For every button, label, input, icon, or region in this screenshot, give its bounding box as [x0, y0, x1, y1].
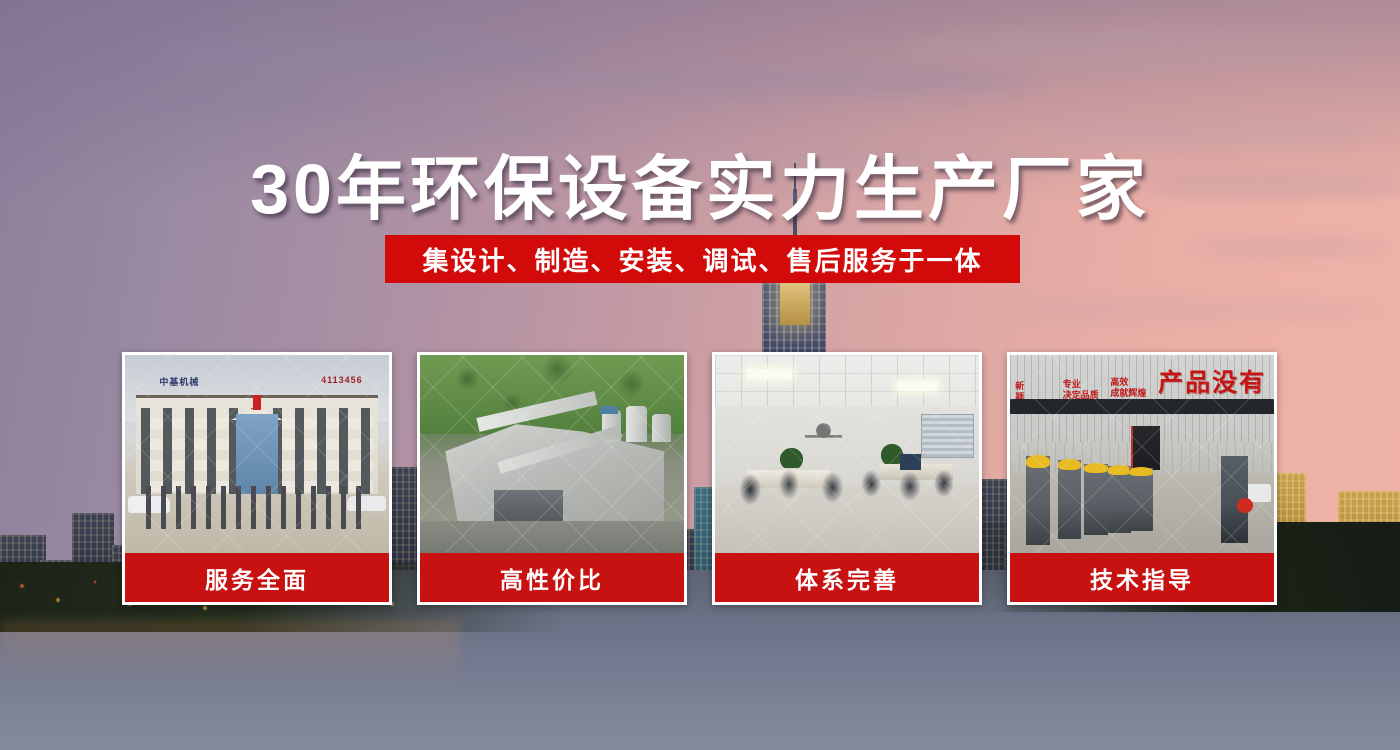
- feature-card[interactable]: 产品没有 新颖 专业决定品质 高效成就辉煌 技术指导: [1007, 352, 1277, 605]
- feature-card[interactable]: 中基机械 4113456 服务全面: [122, 352, 392, 605]
- subtitle-banner: 集设计、制造、安装、调试、售后服务于一体: [385, 235, 1020, 283]
- factory-door: [1131, 426, 1160, 470]
- card-caption: 服务全面: [125, 553, 389, 602]
- cloud-streak: [60, 90, 360, 112]
- cloud-streak: [520, 66, 1040, 96]
- red-helmet-icon: [1237, 498, 1253, 514]
- factory-sign-large: 产品没有: [1158, 363, 1266, 399]
- promotional-banner: 30年环保设备实力生产厂家 集设计、制造、安装、调试、售后服务于一体 中基机械 …: [0, 0, 1400, 750]
- ceiling-light: [747, 369, 792, 379]
- worker-figure: [1084, 464, 1108, 535]
- water-reflection: [0, 620, 460, 690]
- office-chairs: [726, 458, 969, 509]
- cloud-streak: [1190, 238, 1400, 256]
- subtitle-text: 集设计、制造、安装、调试、售后服务于一体: [422, 241, 982, 278]
- card-photo-industrial-plant: [420, 355, 684, 553]
- flag-icon: [253, 395, 261, 411]
- hardhat-icon: [1084, 463, 1108, 473]
- factory-sign-small-3: 高效成就辉煌: [1110, 377, 1146, 400]
- hardhat-icon: [1026, 455, 1050, 467]
- card-photo-headquarters: 中基机械 4113456: [125, 355, 389, 553]
- card-caption: 体系完善: [715, 553, 979, 602]
- worker-figure: [1026, 456, 1050, 545]
- feature-card[interactable]: 体系完善: [712, 352, 982, 605]
- staff-lineup: [146, 486, 368, 530]
- feature-card-row: 中基机械 4113456 服务全面: [122, 352, 1278, 605]
- card-caption: 技术指导: [1010, 553, 1274, 602]
- card-caption: 高性价比: [420, 553, 684, 602]
- ceiling-light: [897, 381, 937, 391]
- building-sign-text: 中基机械: [159, 375, 199, 388]
- building-sign-tel: 4113456: [321, 375, 363, 385]
- hardhat-icon: [1129, 467, 1153, 476]
- wall-decal: [805, 418, 842, 446]
- feature-card[interactable]: 高性价比: [417, 352, 687, 605]
- window-blinds: [921, 414, 974, 458]
- card-photo-workers: 产品没有 新颖 专业决定品质 高效成就辉煌: [1010, 355, 1274, 553]
- worker-figure: [1058, 460, 1082, 539]
- hardhat-icon: [1058, 459, 1082, 470]
- worker-figure: [1129, 468, 1153, 531]
- card-photo-office: [715, 355, 979, 553]
- cloud-streak: [900, 28, 1360, 68]
- cloud-streak: [160, 38, 580, 72]
- page-title: 30年环保设备实力生产厂家: [0, 133, 1400, 234]
